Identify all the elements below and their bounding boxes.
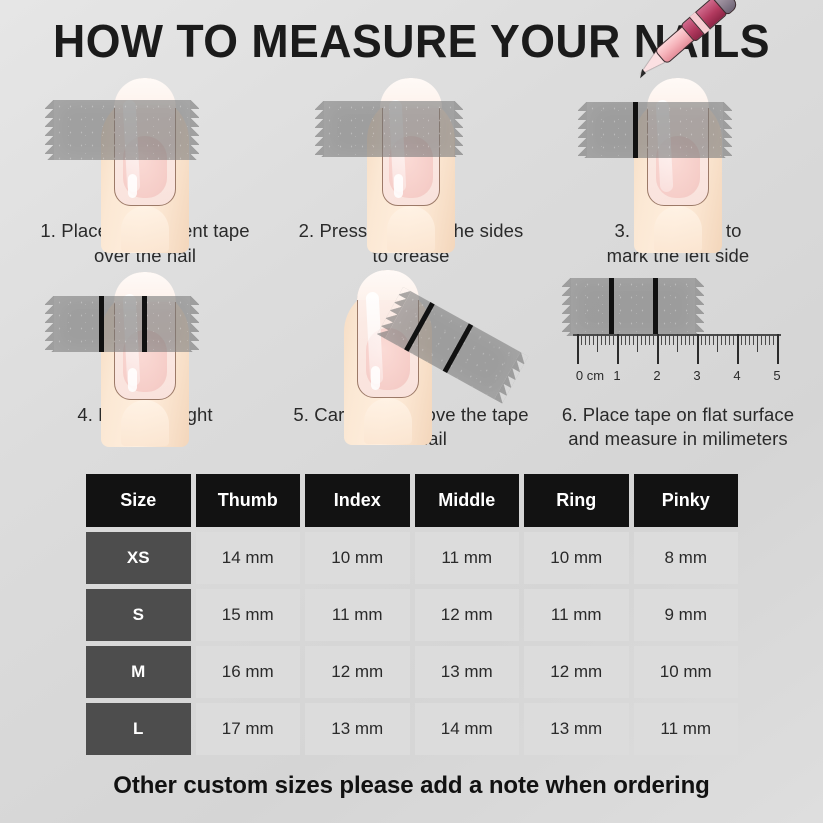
ruler-tick-small bbox=[625, 334, 626, 345]
ruler-tick-small bbox=[773, 334, 774, 345]
ruler-label: 0 cm bbox=[576, 368, 604, 383]
step-6: 0 cm12345 6. Place tape on flat surface … bbox=[544, 268, 812, 468]
tape-strip-flat bbox=[571, 278, 695, 336]
table-cell: 12 mm bbox=[415, 589, 520, 641]
right-edge-mark bbox=[142, 296, 147, 352]
table-cell: 10 mm bbox=[634, 646, 739, 698]
tape-strip bbox=[54, 100, 190, 160]
ruler-tick-small bbox=[641, 334, 642, 345]
tape-strip bbox=[54, 296, 190, 352]
step-2-illustration bbox=[278, 68, 544, 216]
steps-grid: 1. Place transparent tape over the nail bbox=[12, 68, 811, 468]
table-cell: 14 mm bbox=[196, 532, 301, 584]
tape-texture bbox=[324, 101, 454, 157]
left-edge-mark bbox=[99, 296, 104, 352]
ruler-tick-small bbox=[721, 334, 722, 345]
finger-knuckle bbox=[121, 400, 169, 446]
ruler-tick-small bbox=[649, 334, 650, 345]
ruler-label: 5 bbox=[773, 368, 780, 383]
finger-knuckle bbox=[121, 206, 169, 252]
ruler-tick-small bbox=[713, 334, 714, 345]
footer-note: Other custom sizes please add a note whe… bbox=[0, 772, 823, 800]
ruler-tick-small bbox=[613, 334, 614, 345]
ruler-label: 2 bbox=[653, 368, 660, 383]
ruler-tick-small bbox=[593, 334, 594, 345]
left-edge-mark bbox=[633, 102, 638, 158]
table-size-label: L bbox=[86, 703, 191, 755]
ruler-tick-small bbox=[689, 334, 690, 345]
tape-strip bbox=[324, 101, 454, 157]
step-3-illustration bbox=[545, 68, 811, 216]
ruler-tick-small bbox=[589, 334, 590, 345]
ruler-tick-small bbox=[693, 334, 694, 345]
tape-strip bbox=[587, 102, 723, 158]
ruler-tick-small bbox=[745, 334, 746, 345]
step-6-illustration: 0 cm12345 bbox=[545, 268, 811, 401]
table-size-label: S bbox=[86, 589, 191, 641]
table-cell: 8 mm bbox=[634, 532, 739, 584]
table-cell: 9 mm bbox=[634, 589, 739, 641]
ruler-tick-major bbox=[657, 334, 659, 364]
table-cell: 11 mm bbox=[524, 589, 629, 641]
nail-highlight-secondary bbox=[128, 174, 137, 198]
ruler-tick-small bbox=[741, 334, 742, 345]
ruler-tick-small bbox=[701, 334, 702, 345]
table-cell: 12 mm bbox=[524, 646, 629, 698]
ruler-tick-mid bbox=[717, 334, 718, 352]
ruler-tick-small bbox=[669, 334, 670, 345]
table-cell: 13 mm bbox=[415, 646, 520, 698]
step-6-caption-line2: and measure in milimeters bbox=[568, 428, 787, 449]
ruler-tick-small bbox=[753, 334, 754, 345]
size-chart-table: SizeThumbIndexMiddleRingPinkyXS14 mm10 m… bbox=[86, 474, 738, 755]
ruler-tick-small bbox=[605, 334, 606, 345]
ruler-tick-small bbox=[725, 334, 726, 345]
table-cell: 10 mm bbox=[305, 532, 410, 584]
ruler-tick-major bbox=[617, 334, 619, 364]
step-4: 4. Mark the right side next bbox=[12, 268, 278, 468]
finger-knuckle bbox=[364, 398, 412, 444]
finger-knuckle bbox=[654, 206, 702, 252]
step-1: 1. Place transparent tape over the nail bbox=[12, 68, 278, 268]
ruler-tick-mid bbox=[637, 334, 638, 352]
step-3: 3. Use a pen to mark the left side bbox=[544, 68, 812, 268]
ruler-tick-small bbox=[729, 334, 730, 345]
ruler-tick-small bbox=[633, 334, 634, 345]
ruler-label: 3 bbox=[693, 368, 700, 383]
table-cell: 13 mm bbox=[524, 703, 629, 755]
step-2: 2. Press down on the sides to crease bbox=[278, 68, 544, 268]
ruler-tick-major bbox=[577, 334, 579, 364]
ruler-tick-mid bbox=[597, 334, 598, 352]
table-header-size: Size bbox=[86, 474, 191, 527]
tape-texture bbox=[54, 100, 190, 160]
nail-highlight-secondary bbox=[394, 174, 403, 198]
tape-texture bbox=[54, 296, 190, 352]
step-4-illustration bbox=[12, 268, 278, 401]
ruler-tick-small bbox=[621, 334, 622, 345]
finger-knuckle bbox=[387, 206, 435, 252]
ruler-tick-small bbox=[665, 334, 666, 345]
nail-highlight-secondary bbox=[128, 368, 137, 392]
ruler-tick-mid bbox=[677, 334, 678, 352]
step-5-illustration bbox=[278, 268, 544, 401]
ruler-tick-small bbox=[645, 334, 646, 345]
ruler-tick-small bbox=[673, 334, 674, 345]
table-cell: 17 mm bbox=[196, 703, 301, 755]
ruler-tick-small bbox=[769, 334, 770, 345]
table-header-middle: Middle bbox=[415, 474, 520, 527]
step-6-caption: 6. Place tape on flat surface and measur… bbox=[544, 403, 812, 452]
ruler-tick-major bbox=[777, 334, 779, 364]
ruler-tick-small bbox=[609, 334, 610, 345]
step-6-caption-line1: 6. Place tape on flat surface bbox=[562, 404, 794, 425]
ruler-tick-major bbox=[697, 334, 699, 364]
table-cell: 11 mm bbox=[634, 703, 739, 755]
ruler-tick-small bbox=[585, 334, 586, 345]
table-header-index: Index bbox=[305, 474, 410, 527]
ruler-tick-small bbox=[749, 334, 750, 345]
left-edge-mark bbox=[609, 278, 614, 336]
right-edge-mark bbox=[653, 278, 658, 336]
table-header-ring: Ring bbox=[524, 474, 629, 527]
ruler-tick-small bbox=[709, 334, 710, 345]
table-cell: 11 mm bbox=[305, 589, 410, 641]
tape-texture bbox=[571, 278, 695, 336]
table-cell: 11 mm bbox=[415, 532, 520, 584]
ruler-tick-small bbox=[601, 334, 602, 345]
table-cell: 14 mm bbox=[415, 703, 520, 755]
ruler-tick-small bbox=[653, 334, 654, 345]
step-5: 5. Carefully remove the tape from nail bbox=[278, 268, 544, 468]
table-cell: 15 mm bbox=[196, 589, 301, 641]
ruler-tick-small bbox=[765, 334, 766, 345]
ruler-tick-small bbox=[705, 334, 706, 345]
ruler-tick-small bbox=[661, 334, 662, 345]
ruler-tick-small bbox=[761, 334, 762, 345]
ruler-label: 4 bbox=[733, 368, 740, 383]
ruler-tick-small bbox=[685, 334, 686, 345]
ruler-tick-small bbox=[629, 334, 630, 345]
table-size-label: XS bbox=[86, 532, 191, 584]
nail-highlight-secondary bbox=[371, 366, 380, 390]
ruler-tick-major bbox=[737, 334, 739, 364]
infographic-page: HOW TO MEASURE YOUR NAILS 1. Pla bbox=[0, 0, 823, 823]
tape-texture bbox=[587, 102, 723, 158]
table-header-thumb: Thumb bbox=[196, 474, 301, 527]
table-cell: 16 mm bbox=[196, 646, 301, 698]
ruler: 0 cm12345 bbox=[573, 334, 783, 396]
ruler-tick-small bbox=[681, 334, 682, 345]
table-cell: 12 mm bbox=[305, 646, 410, 698]
ruler-label: 1 bbox=[613, 368, 620, 383]
ruler-tick-small bbox=[733, 334, 734, 345]
table-size-label: M bbox=[86, 646, 191, 698]
ruler-tick-mid bbox=[757, 334, 758, 352]
table-header-pinky: Pinky bbox=[634, 474, 739, 527]
table-cell: 13 mm bbox=[305, 703, 410, 755]
table-cell: 10 mm bbox=[524, 532, 629, 584]
step-1-illustration bbox=[12, 68, 278, 216]
ruler-tick-small bbox=[581, 334, 582, 345]
